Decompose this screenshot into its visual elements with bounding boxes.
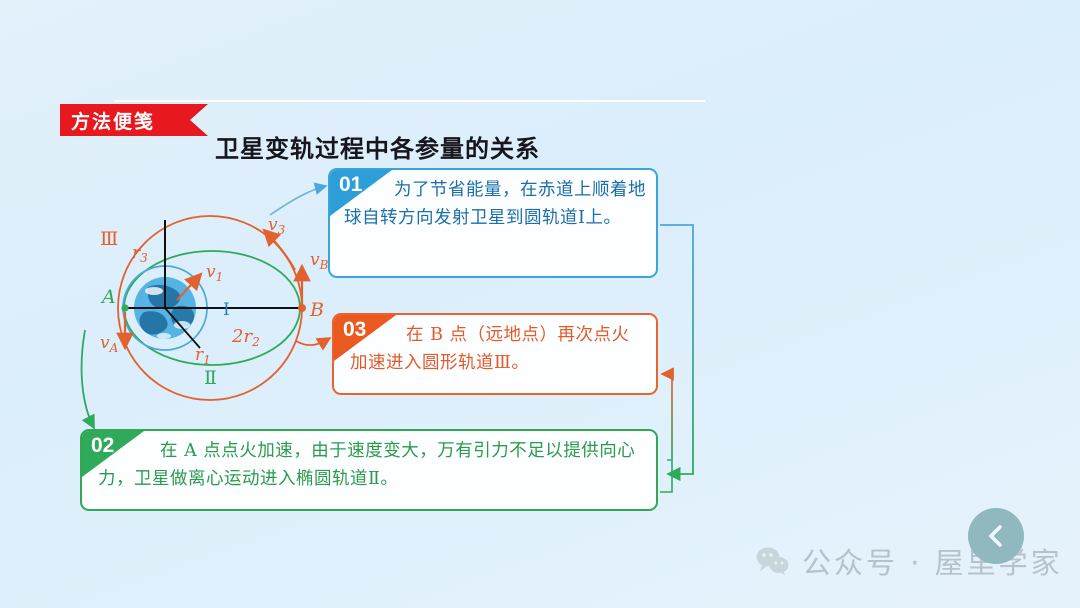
- info-box-02: 02 在 A 点点火加速，由于速度变大，万有引力不足以提供向心力，卫星做离心运动…: [80, 429, 658, 511]
- label-point-b: B: [309, 299, 324, 321]
- label-v1: v1: [206, 262, 223, 284]
- info-box-02-text: 在 A 点点火加速，由于速度变大，万有引力不足以提供向心力，卫星做离心运动进入椭…: [82, 431, 656, 494]
- info-box-03: 03 在 B 点（远地点）再次点火加速进入圆形轨道Ⅲ。: [332, 313, 658, 395]
- label-orbit-one: Ⅰ: [223, 300, 230, 320]
- label-r3: r3: [132, 243, 148, 265]
- ribbon-notch: [190, 104, 208, 136]
- label-vb: vB: [310, 250, 329, 272]
- label-v3: v3: [268, 215, 286, 237]
- slide-root: 方法便笺 卫星变轨过程中各参量的关系: [0, 0, 1080, 608]
- ribbon-banner: 方法便笺: [60, 104, 190, 136]
- wechat-icon: [756, 546, 790, 576]
- orbital-diagram: Ⅲ Ⅰ Ⅱ A B r3 r1 2r2 v1 v3 vA vB: [60, 160, 360, 410]
- chevron-left-icon: [983, 523, 1009, 549]
- label-va: vA: [100, 333, 119, 355]
- label-r1: r1: [195, 345, 211, 367]
- info-box-01: 01 为了节省能量，在赤道上顺着地球自转方向发射卫星到圆轨道Ⅰ上。: [328, 168, 658, 278]
- label-point-a: A: [100, 286, 116, 308]
- page-title: 卫星变轨过程中各参量的关系: [215, 129, 540, 164]
- point-b-dot: [298, 304, 306, 312]
- point-a-dot: [121, 304, 128, 311]
- header-divider: [115, 100, 705, 102]
- back-button[interactable]: [968, 508, 1024, 564]
- watermark-text: 公众号 · 屋里学家: [802, 540, 1063, 582]
- label-orbit-three: Ⅲ: [100, 228, 118, 250]
- label-2r2: 2r2: [231, 326, 260, 349]
- label-orbit-two: Ⅱ: [204, 367, 217, 389]
